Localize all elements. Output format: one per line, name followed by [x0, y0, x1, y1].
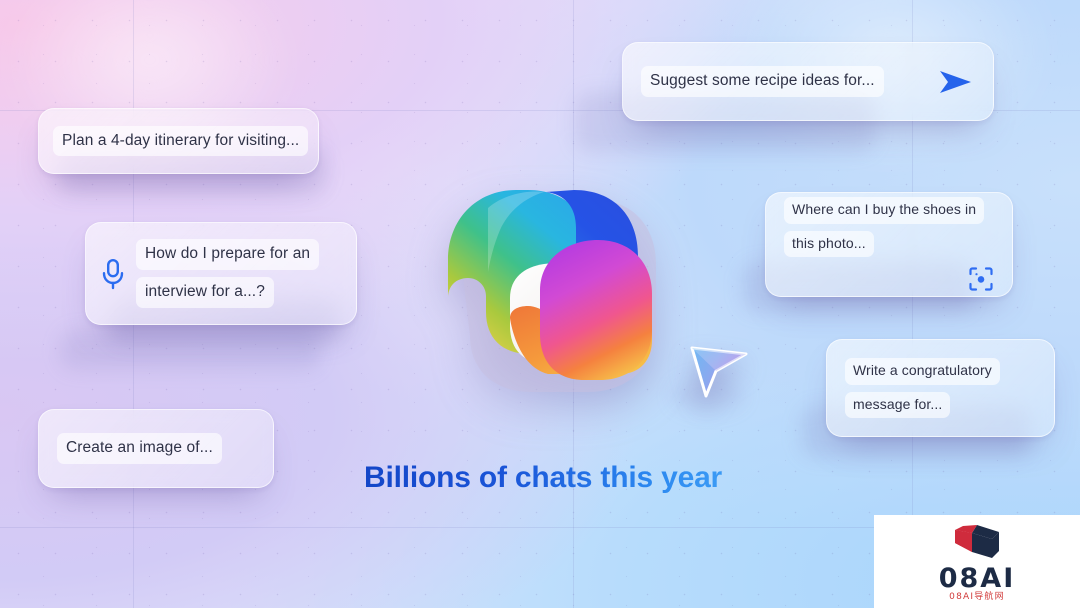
cube-logo-icon — [950, 522, 1004, 564]
prompt-text-itinerary-line1: Plan a 4-day itinerary for visiting... — [53, 126, 308, 157]
prompt-text-shoes-line2: this photo... — [784, 231, 874, 258]
prompt-card-shoes-content: Where can I buy the shoes in this photo.… — [784, 197, 994, 293]
card-shadow-createimg-upper — [60, 330, 320, 370]
prompt-card-itinerary[interactable]: Plan a 4-day itinerary for visiting... — [38, 108, 319, 174]
scan-icon-wrapper — [784, 266, 994, 292]
prompt-card-create-image-content: Create an image of... — [57, 433, 255, 464]
prompt-card-interview-row: How do I prepare for an interview for a.… — [100, 239, 342, 308]
prompt-text-shoes-line1: Where can I buy the shoes in — [784, 197, 984, 224]
prompt-text-congrats-line2: message for... — [845, 392, 950, 419]
prompt-card-recipe-row: Suggest some recipe ideas for... — [641, 65, 975, 99]
prompt-text-create-image-line1: Create an image of... — [57, 433, 222, 464]
prompt-text-congrats-line1: Write a congratulatory — [845, 358, 1000, 385]
cursor-3d-arrow — [676, 334, 754, 406]
08ai-watermark: 08AI 08AI导航网 — [874, 515, 1080, 608]
prompt-text-recipe-line1: Suggest some recipe ideas for... — [641, 66, 884, 97]
prompt-card-interview[interactable]: How do I prepare for an interview for a.… — [85, 222, 357, 325]
scan-icon[interactable] — [968, 266, 994, 292]
prompt-card-itinerary-content: Plan a 4-day itinerary for visiting... — [53, 126, 304, 157]
prompt-card-recipe[interactable]: Suggest some recipe ideas for... — [622, 42, 994, 121]
watermark-sub-text: 08AI导航网 — [949, 593, 1005, 602]
prompt-text-interview-line1: How do I prepare for an — [136, 239, 319, 270]
page-title: Billions of chats this year — [364, 461, 722, 495]
prompt-card-shoes[interactable]: Where can I buy the shoes in this photo.… — [765, 192, 1013, 297]
prompt-card-interview-content: How do I prepare for an interview for a.… — [136, 239, 342, 308]
copilot-logo — [424, 168, 668, 396]
send-icon[interactable] — [935, 65, 975, 99]
prompt-card-congratulatory[interactable]: Write a congratulatory message for... — [826, 339, 1055, 437]
prompt-text-interview-line2: interview for a...? — [136, 277, 274, 308]
prompt-card-create-image[interactable]: Create an image of... — [38, 409, 274, 488]
prompt-card-recipe-content: Suggest some recipe ideas for... — [641, 66, 925, 97]
microphone-icon[interactable] — [100, 258, 126, 290]
watermark-main-text: 08AI — [939, 565, 1016, 592]
prompt-card-congratulatory-content: Write a congratulatory message for... — [845, 358, 1036, 419]
hero-canvas: Plan a 4-day itinerary for visiting... H… — [0, 0, 1080, 608]
